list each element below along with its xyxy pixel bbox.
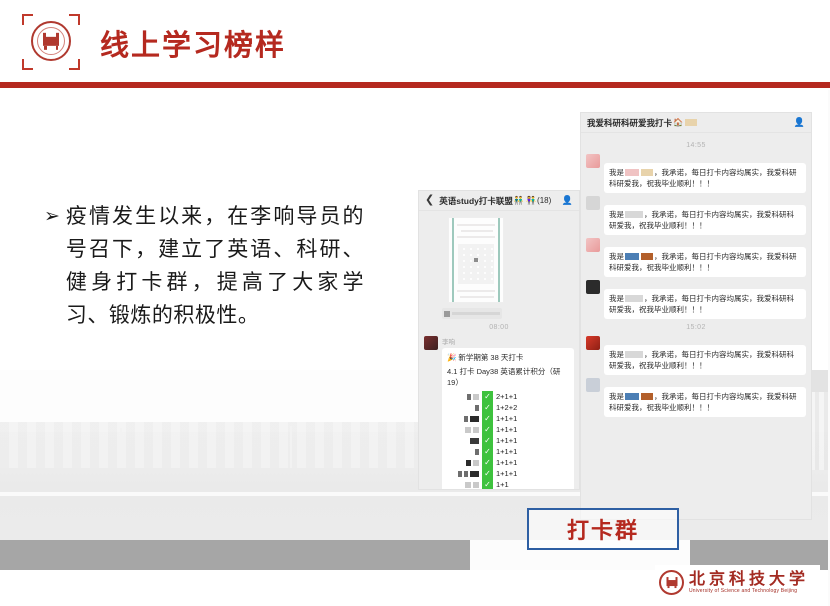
chat-screenshot-research-group: 我爱科研科研爱我打卡 🏠 👤 14:55 我是，我承诺，每日打卡内容均属实，我爱… [580, 112, 812, 520]
timestamp: 14:55 [586, 142, 806, 149]
list-item: ✓ 1+1+1 [449, 413, 569, 424]
message-bubble[interactable]: 我是，我承诺，每日打卡内容均属实，我爱科研科研爱我，祝我毕业顺利！！！ [604, 163, 806, 193]
contact-icon[interactable]: 👤 [794, 117, 805, 128]
check-icon: ✓ [482, 391, 493, 402]
score-value: 1+1+1 [496, 435, 517, 446]
score-list: ✓ 2+1+1 ✓ 1+2+2 ✓ 1+1+1 [449, 391, 569, 490]
chat-header: 我爱科研科研爱我打卡 🏠 👤 [581, 113, 811, 133]
message-bubble[interactable]: 我是，我承诺，每日打卡内容均属实，我爱科研科研爱我，祝我毕业顺利！！！ [604, 205, 806, 235]
avatar[interactable] [586, 280, 600, 294]
image-message-calendar[interactable] [448, 217, 504, 303]
pledge-prefix: 我是 [609, 168, 624, 177]
contact-icon[interactable]: 👤 [562, 195, 573, 206]
university-name-en: University of Science and Technology Bei… [689, 588, 809, 595]
people-emoji: 👬 👫 [514, 196, 536, 205]
member-count: (18) [537, 196, 551, 205]
chat-title: 我爱科研科研爱我打卡 [587, 117, 672, 129]
redacted-name [625, 351, 643, 358]
sender-name [604, 336, 806, 343]
score-value: 1+1 [496, 479, 509, 490]
pledge-prefix: 我是 [609, 210, 624, 219]
timestamp: 15:02 [586, 324, 806, 331]
ding-cauldron-icon [41, 33, 61, 50]
bullet-paragraph: 疫情发生以来，在李响导员的号召下，建立了英语、科研、健身打卡群，提高了大家学习、… [66, 200, 364, 332]
check-icon: ✓ [482, 468, 493, 479]
callout-label: 打卡群 [567, 513, 639, 545]
list-item: ✓ 2+1+1 [449, 391, 569, 402]
avatar[interactable] [586, 336, 600, 350]
image-caption-button[interactable] [442, 308, 502, 319]
bullet-item: ➢ 疫情发生以来，在李响导员的号召下，建立了英语、科研、健身打卡群，提高了大家学… [44, 200, 364, 332]
party-emoji: 🎉 [447, 353, 456, 362]
score-value: 1+1+1 [496, 424, 517, 435]
message-row: 我是，我承诺，每日打卡内容均属实，我爱科研科研爱我，祝我毕业顺利！！！ [586, 280, 806, 319]
message-row: 我是，我承诺，每日打卡内容均属实，我爱科研科研爱我，祝我毕业顺利！！！ [586, 154, 806, 193]
check-icon: ✓ [482, 479, 493, 490]
redacted-name [641, 169, 653, 176]
pledge-prefix: 我是 [609, 252, 624, 261]
chat-message-list: 14:55 我是，我承诺，每日打卡内容均属实，我爱科研科研爱我，祝我毕业顺利！！… [581, 133, 811, 424]
redacted-name [625, 211, 643, 218]
header-divider-highlight [0, 88, 830, 90]
score-value: 1+1+1 [496, 457, 517, 468]
message-line-1: 新学期第 38 天打卡 [458, 353, 523, 362]
pledge-prefix: 我是 [609, 294, 624, 303]
chat-message-list: 08:00 李响 🎉新学期第 38 天打卡 4.1 打卡 Day38 英语累计积… [419, 211, 579, 490]
list-item: ✓ 1+1+1 [449, 424, 569, 435]
message-bubble[interactable]: 🎉新学期第 38 天打卡 4.1 打卡 Day38 英语累计积分（研19） ✓ … [442, 348, 574, 490]
sender-name: 李响 [442, 336, 574, 346]
check-icon: ✓ [482, 402, 493, 413]
redacted-name [625, 253, 639, 260]
content-text-block: ➢ 疫情发生以来，在李响导员的号召下，建立了英语、科研、健身打卡群，提高了大家学… [44, 200, 364, 332]
message-bubble[interactable]: 我是，我承诺，每日打卡内容均属实，我爱科研科研爱我，祝我毕业顺利！！！ [604, 345, 806, 375]
sender-name [604, 154, 806, 161]
list-item: ✓ 1+1+1 [449, 468, 569, 479]
chat-header: ❮ 英语study打卡联盟 👬 👫 (18) 👤 [419, 191, 579, 211]
avatar[interactable] [586, 154, 600, 168]
university-name-cn: 北京科技大学 [689, 570, 809, 588]
chevron-left-icon[interactable]: ❮ [425, 195, 434, 206]
ustb-footer-seal [659, 570, 684, 595]
sender-name [604, 196, 806, 203]
redacted-name [641, 253, 653, 260]
list-item: ✓ 1+1+1 [449, 457, 569, 468]
check-icon: ✓ [482, 457, 493, 468]
timestamp: 08:00 [424, 324, 574, 331]
ustb-seal-logo [22, 14, 80, 70]
ustb-footer-logo: 北京科技大学 University of Science and Technol… [655, 565, 820, 599]
message-row: 李响 🎉新学期第 38 天打卡 4.1 打卡 Day38 英语累计积分（研19）… [424, 336, 574, 490]
message-bubble[interactable]: 我是，我承诺，每日打卡内容均属实，我爱科研科研爱我，祝我毕业顺利！！！ [604, 247, 806, 277]
list-item: ✓ 1+1+1 [449, 446, 569, 457]
seal-circle-icon [31, 21, 71, 61]
score-value: 1+1+1 [496, 446, 517, 457]
chat-screenshot-english-group: ❮ 英语study打卡联盟 👬 👫 (18) 👤 08:00 [418, 190, 580, 490]
sender-name [604, 378, 806, 385]
score-value: 1+2+2 [496, 402, 517, 413]
chat-title: 英语study打卡联盟 [439, 195, 513, 207]
check-icon: ✓ [482, 424, 493, 435]
redacted-name [625, 295, 643, 302]
message-bubble[interactable]: 我是，我承诺，每日打卡内容均属实，我爱科研科研爱我，祝我毕业顺利！！！ [604, 387, 806, 417]
house-emoji: 🏠 [673, 118, 683, 127]
presentation-slide: 线上学习榜样 ➢ 疫情发生以来，在李响导员的号召下，建立了英语、科研、健身打卡群… [0, 0, 830, 606]
message-row: 我是，我承诺，每日打卡内容均属实，我爱科研科研爱我，祝我毕业顺利！！！ [586, 196, 806, 235]
message-bubble[interactable]: 我是，我承诺，每日打卡内容均属实，我爱科研科研爱我，祝我毕业顺利！！！ [604, 289, 806, 319]
message-row: 我是，我承诺，每日打卡内容均属实，我爱科研科研爱我，祝我毕业顺利！！！ [586, 238, 806, 277]
sender-name [604, 238, 806, 245]
score-value: 1+1+1 [496, 468, 517, 479]
avatar[interactable] [586, 238, 600, 252]
message-row: 我是，我承诺，每日打卡内容均属实，我爱科研科研爱我，祝我毕业顺利！！！ [586, 336, 806, 375]
list-item: ✓ 1+1 [449, 479, 569, 490]
check-icon: ✓ [482, 446, 493, 457]
score-value: 2+1+1 [496, 391, 517, 402]
avatar[interactable] [586, 196, 600, 210]
slide-header: 线上学习榜样 [0, 0, 830, 82]
list-item: ✓ 1+2+2 [449, 402, 569, 413]
sender-name [604, 280, 806, 287]
message-row: 我是，我承诺，每日打卡内容均属实，我爱科研科研爱我，祝我毕业顺利！！！ [586, 378, 806, 417]
ding-cauldron-icon [665, 577, 678, 588]
pledge-prefix: 我是 [609, 392, 624, 401]
redacted-name [625, 169, 639, 176]
avatar[interactable] [424, 336, 438, 350]
pledge-prefix: 我是 [609, 350, 624, 359]
check-icon: ✓ [482, 435, 493, 446]
callout-box: 打卡群 [527, 508, 679, 550]
redacted-name [641, 393, 653, 400]
avatar[interactable] [586, 378, 600, 392]
list-item: ✓ 1+1+1 [449, 435, 569, 446]
bullet-arrow-icon: ➢ [44, 200, 60, 233]
redacted-name [625, 393, 639, 400]
score-value: 1+1+1 [496, 413, 517, 424]
check-icon: ✓ [482, 413, 493, 424]
page-title: 线上学习榜样 [100, 22, 286, 64]
message-line-2: 4.1 打卡 Day38 英语累计积分（研19） [447, 366, 569, 388]
redacted-name [685, 119, 697, 126]
